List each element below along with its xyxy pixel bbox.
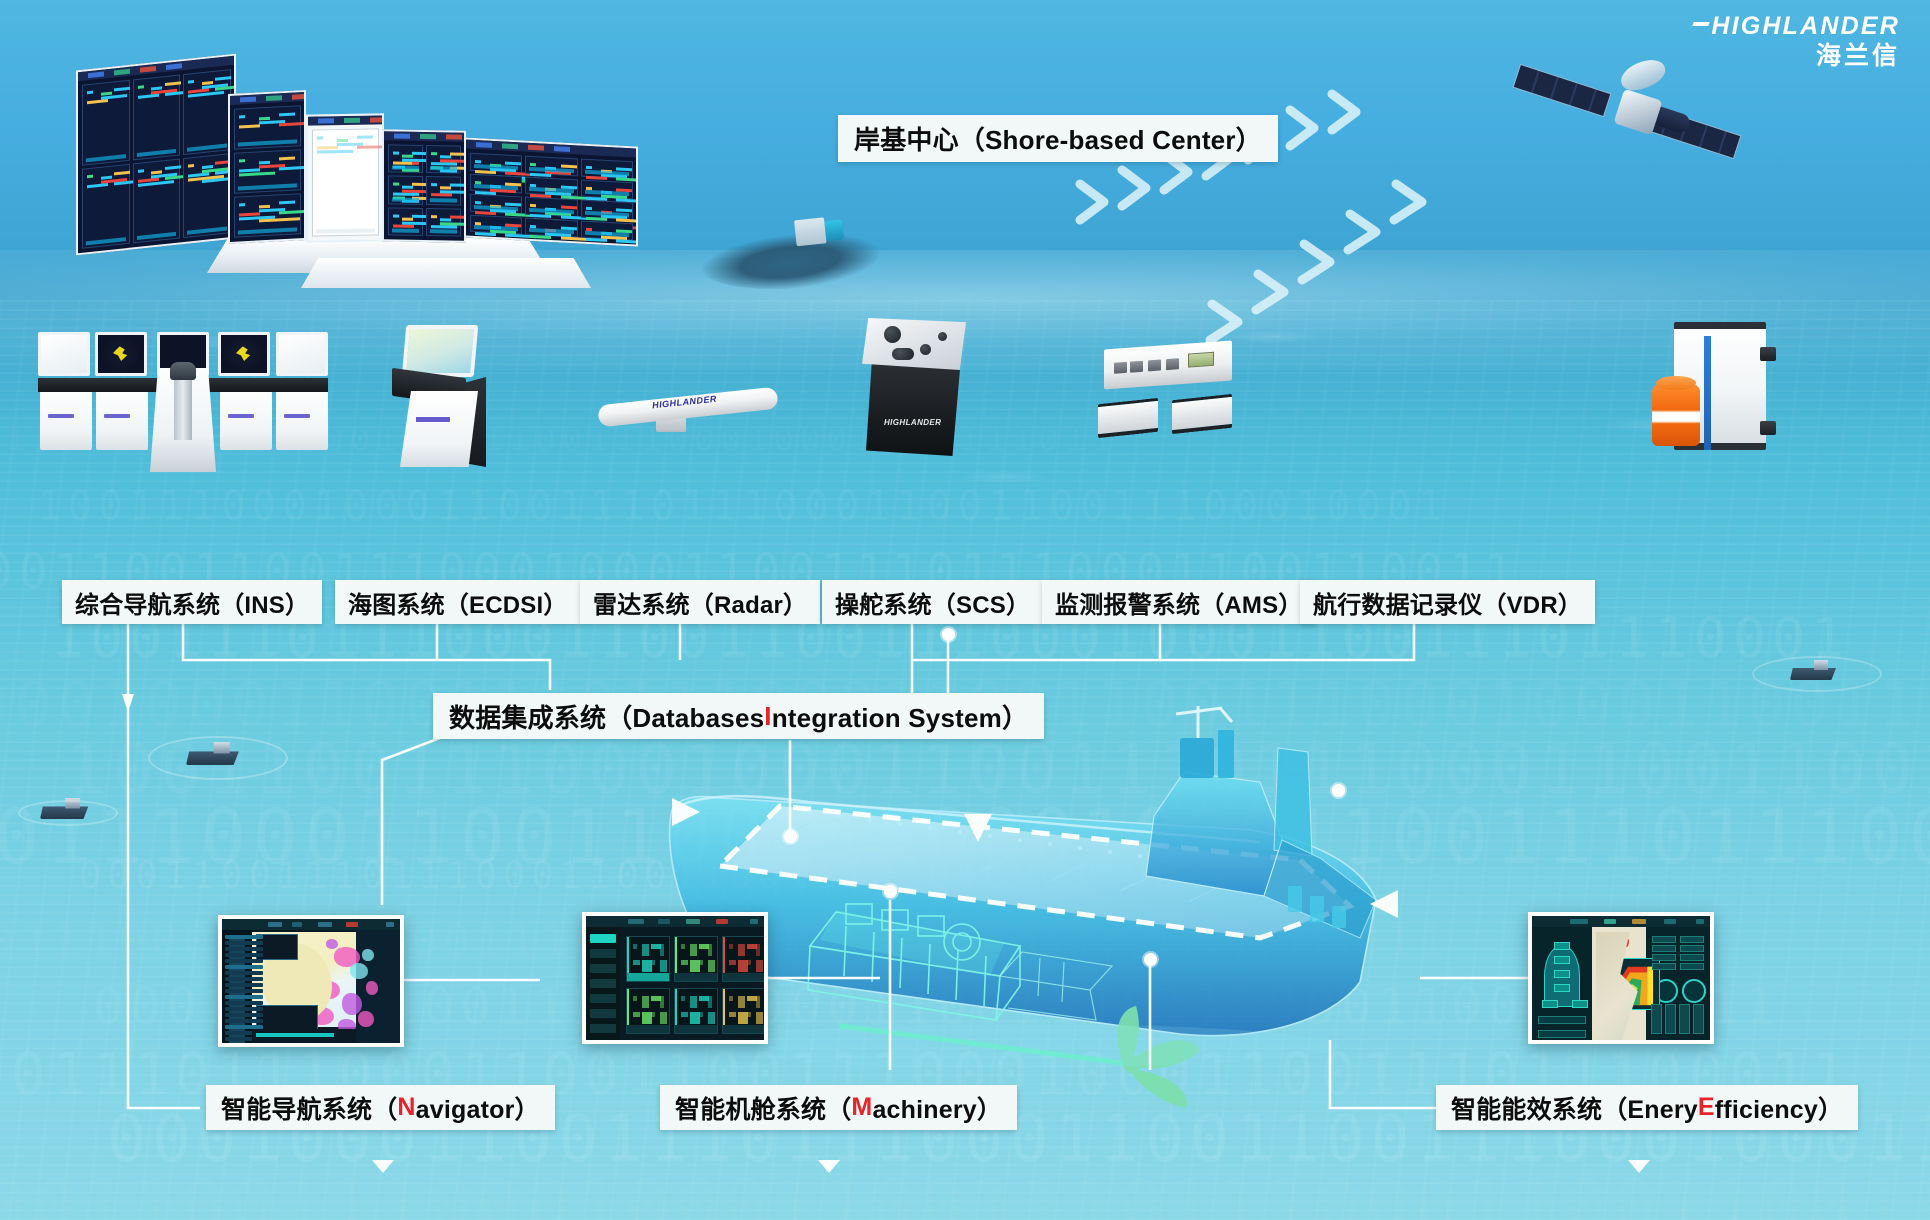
- smart-system-suffix-efficiency: fficiency）: [1715, 1090, 1843, 1126]
- ins-cabinet-3: [220, 392, 272, 450]
- efficiency-scale: [1538, 1030, 1586, 1038]
- efficiency-readout-tag: [1554, 956, 1570, 964]
- smart-system-prefix-efficiency: 智能能效系统（Enery: [1451, 1090, 1698, 1126]
- video-wall-screen-4[interactable]: [382, 129, 466, 242]
- vdr-blue-stripe: [1704, 336, 1711, 450]
- vdr-capsule: [1652, 384, 1700, 446]
- screen-panel: [470, 214, 522, 234]
- video-wall-screen-5[interactable]: [464, 137, 638, 246]
- vdr-hinge-bottom: [1760, 421, 1776, 435]
- efficiency-value-box: [1652, 963, 1676, 970]
- scs-cabinet: HIGHLANDER: [866, 364, 960, 456]
- machinery-tile-caption: [627, 1025, 669, 1033]
- ins-cabinet-1: [40, 392, 92, 450]
- ship-node-integration: [784, 830, 797, 843]
- navigator-chart-feature: [362, 949, 374, 961]
- machinery-tile-caption: [627, 973, 669, 981]
- ins-cabinet-2: [96, 392, 148, 450]
- screen-panel: [133, 158, 181, 244]
- efficiency-bar-meter: [1679, 1004, 1690, 1034]
- ecdis-screen: [402, 325, 479, 377]
- navigator-info-row: [225, 971, 263, 975]
- ams-module-1: [1098, 398, 1158, 438]
- screen-panel: [470, 153, 522, 173]
- equipment-label-text-scs: 操舵系统（SCS）: [835, 585, 1030, 620]
- navigator-info-row: [225, 959, 263, 963]
- screen-panel: [388, 144, 423, 173]
- scs-knob-2: [920, 344, 931, 355]
- machinery-subsystem-tile[interactable]: [626, 988, 670, 1034]
- screen-panel: [581, 200, 633, 220]
- screen-panel: [183, 69, 231, 155]
- machinery-tile-caption: [675, 973, 717, 981]
- equipment-label-ins: 综合导航系统（INS）: [62, 580, 322, 624]
- ins-monitor-5: [276, 332, 328, 376]
- satellite-solar-panel-left: [1512, 64, 1611, 117]
- steering-console-icon: HIGHLANDER: [862, 318, 972, 458]
- screen-panel: [426, 208, 461, 237]
- mini-vessel-right-wake: [1752, 656, 1882, 692]
- machinery-screenshot[interactable]: [582, 912, 768, 1044]
- navigator-progress-bar[interactable]: [256, 1033, 334, 1037]
- navigator-info-row: [225, 983, 263, 987]
- screen-panel: [183, 153, 231, 239]
- smart-ship-architecture-diagram: 1000110011101110001100110011100010001100…: [0, 0, 1930, 1220]
- screen-titlebar: [384, 131, 464, 141]
- scs-knob-1: [884, 326, 901, 343]
- ecdis-cabinet: [400, 391, 478, 467]
- navigator-info-row: [225, 977, 263, 981]
- vdr-hinge-top: [1760, 347, 1776, 361]
- ins-monitor-4: [218, 332, 270, 376]
- smart-system-label-navigator: 智能导航系统（Navigator）: [206, 1085, 555, 1130]
- equipment-label-ecdsi: 海图系统（ECDSI）: [335, 580, 581, 624]
- equipment-label-ams: 监测报警系统（AMS）: [1042, 580, 1316, 624]
- marker-triangle-2: [818, 1160, 840, 1173]
- smart-system-prefix-machinery: 智能机舱系统（: [675, 1090, 851, 1126]
- equipment-label-vdr: 航行数据记录仪（VDR）: [1300, 580, 1595, 624]
- efficiency-value-box: [1680, 954, 1704, 961]
- efficiency-bar-meter: [1693, 1004, 1704, 1034]
- machinery-menu-item[interactable]: [590, 964, 616, 973]
- equipment-label-radar: 雷达系统（Radar）: [580, 580, 820, 624]
- navigator-screenshot[interactable]: [218, 915, 404, 1047]
- efficiency-readout-tag: [1554, 942, 1570, 950]
- screen-panel: [82, 80, 130, 166]
- control-room-video-wall: [58, 42, 638, 272]
- ins-monitor-1: [38, 332, 90, 376]
- data-integration-prefix: 数据集成系统（Databases: [449, 698, 764, 735]
- scs-wheel: [892, 348, 914, 360]
- efficiency-value-box: [1680, 936, 1704, 943]
- equipment-label-scs: 操舵系统（SCS）: [822, 580, 1043, 624]
- efficiency-readout-tag: [1542, 1000, 1558, 1008]
- efficiency-value-box: [1652, 945, 1676, 952]
- marker-triangle-3: [1628, 1160, 1650, 1173]
- efficiency-titlebar: [1532, 916, 1710, 927]
- island-structure: [794, 217, 827, 246]
- alarm-rack-icon: [1098, 345, 1278, 455]
- video-wall-screen-2[interactable]: [228, 90, 306, 244]
- ins-helm-seat: [170, 362, 196, 380]
- efficiency-readout-tag: [1554, 970, 1570, 978]
- machinery-tile-caption: [723, 1025, 765, 1033]
- screen-panel: [82, 163, 130, 249]
- smart-system-highlight-machinery: M: [851, 1093, 872, 1122]
- island-tower: [824, 219, 844, 241]
- navigator-info-row: [225, 947, 263, 951]
- screen-panel: [388, 207, 423, 236]
- mini-vessel-mid-wake: [148, 736, 288, 780]
- efficiency-scale: [1538, 1016, 1586, 1024]
- ams-module-2: [1172, 394, 1232, 434]
- satellite-icon: [1512, 38, 1752, 178]
- navigator-chart-feature: [358, 1011, 374, 1027]
- navigator-info-row: [225, 989, 263, 993]
- equipment-label-text-vdr: 航行数据记录仪（VDR）: [1313, 585, 1582, 620]
- video-wall-screen-3[interactable]: [306, 113, 384, 242]
- efficiency-readout-tag: [1554, 984, 1570, 992]
- machinery-menu-item[interactable]: [590, 1024, 616, 1033]
- efficiency-bar-meter: [1651, 1004, 1662, 1034]
- screen-panel: [525, 217, 577, 237]
- screen-panel: [234, 105, 301, 150]
- navigator-info-row: [225, 965, 263, 969]
- screen-panel: [388, 176, 423, 205]
- ship-node-bridge: [942, 628, 955, 641]
- data-integration-highlight: I: [764, 701, 771, 732]
- equipment-label-text-ins: 综合导航系统（INS）: [75, 585, 309, 620]
- cargo-ship-icon: [660, 690, 1450, 1110]
- shore-center-label: 岸基中心（Shore-based Center）: [838, 115, 1278, 162]
- ins-center-column: [174, 378, 192, 440]
- screen-titlebar: [230, 92, 304, 105]
- scs-knob-3: [938, 332, 947, 341]
- navigator-info-row: [225, 1007, 263, 1011]
- machinery-menu-item[interactable]: [590, 934, 616, 943]
- video-wall-screen-1[interactable]: [76, 54, 236, 256]
- smart-system-highlight-efficiency: E: [1698, 1093, 1715, 1122]
- scs-brand-text: HIGHLANDER: [884, 418, 941, 427]
- scs-control-surface: [862, 318, 966, 370]
- smart-system-label-efficiency: 智能能效系统（Enery Efficiency）: [1436, 1085, 1858, 1130]
- data-integration-suffix: ntegration System）: [772, 698, 1028, 735]
- screen-panel: [581, 179, 633, 199]
- efficiency-value-box: [1652, 936, 1676, 943]
- chart-workstation-icon: [392, 325, 502, 470]
- navigator-info-row: [225, 941, 263, 945]
- navigator-info-row: [225, 1001, 263, 1005]
- efficiency-gauge-2: [1682, 979, 1706, 1003]
- screen-panel: [525, 197, 577, 217]
- machinery-subsystem-tile[interactable]: [626, 936, 670, 982]
- mini-vessel-left-wake: [18, 800, 118, 826]
- screen-panel: [312, 128, 379, 236]
- ship-node-deck: [1332, 784, 1345, 797]
- smart-system-prefix-navigator: 智能导航系统（: [221, 1090, 397, 1126]
- efficiency-readout-tag: [1572, 1000, 1588, 1008]
- efficiency-value-box: [1652, 954, 1676, 961]
- navigator-chart-feature: [326, 939, 338, 949]
- screen-panel: [470, 194, 522, 214]
- machinery-menu-item[interactable]: [590, 979, 616, 988]
- screen-panel: [426, 145, 461, 174]
- screen-panel: [234, 149, 301, 194]
- machinery-tile-caption: [675, 1025, 717, 1033]
- screen-panel: [234, 193, 301, 238]
- screen-panel: [470, 173, 522, 193]
- navigator-info-row: [225, 1019, 263, 1023]
- navigator-titlebar: [222, 919, 400, 930]
- machinery-menu-item[interactable]: [590, 994, 616, 1003]
- machinery-subsystem-tile[interactable]: [674, 936, 718, 982]
- screen-panel: [133, 74, 181, 160]
- navigator-info-row: [225, 1013, 263, 1017]
- machinery-menu-item[interactable]: [590, 1009, 616, 1018]
- machinery-menu-item[interactable]: [590, 949, 616, 958]
- screen-panel: [525, 176, 577, 196]
- navigator-chart-feature: [350, 963, 368, 979]
- machinery-subsystem-tile[interactable]: [722, 936, 766, 982]
- machinery-subsystem-tile[interactable]: [674, 988, 718, 1034]
- ams-rack-unit: [1104, 341, 1232, 390]
- efficiency-screenshot[interactable]: [1528, 912, 1714, 1044]
- data-integration-label: 数据集成系统（Databases Integration System）: [433, 693, 1044, 739]
- navigator-info-row: [225, 935, 263, 939]
- efficiency-value-box: [1680, 963, 1704, 970]
- ship-node-stern: [1144, 953, 1157, 966]
- navigator-info-row: [225, 995, 263, 999]
- brand-wordmark: HIGHLANDER: [1693, 14, 1900, 39]
- efficiency-value-box: [1680, 945, 1704, 952]
- navigator-chart-feature: [342, 993, 362, 1015]
- radar-array: [597, 387, 778, 428]
- ship-node-engine: [884, 885, 897, 898]
- radar-antenna-icon: HIGHLANDER: [598, 368, 778, 458]
- efficiency-bar-meter: [1665, 1004, 1676, 1034]
- machinery-tile-caption: [723, 973, 765, 981]
- marker-triangle-1: [372, 1160, 394, 1173]
- machinery-titlebar: [586, 916, 764, 927]
- equipment-label-text-ecdsi: 海图系统（ECDSI）: [348, 585, 568, 620]
- screen-titlebar: [308, 115, 382, 125]
- navigator-chart-feature: [366, 981, 378, 995]
- ins-monitor-2: [95, 332, 147, 376]
- smart-system-label-machinery: 智能机舱系统（Machinery）: [660, 1085, 1017, 1130]
- ins-cabinet-4: [276, 392, 328, 450]
- screen-panel: [426, 176, 461, 205]
- screen-panel: [581, 220, 633, 240]
- machinery-subsystem-tile[interactable]: [722, 988, 766, 1034]
- navigator-info-row: [225, 953, 263, 957]
- equipment-label-text-radar: 雷达系统（Radar）: [593, 585, 807, 620]
- equipment-label-text-ams: 监测报警系统（AMS）: [1055, 585, 1303, 620]
- smart-system-suffix-machinery: achinery）: [872, 1090, 1002, 1126]
- video-wall-podium: [301, 258, 591, 288]
- vdr-cabinet-icon: [1652, 322, 1782, 462]
- smart-system-highlight-navigator: N: [397, 1093, 415, 1122]
- screen-panel: [525, 156, 577, 176]
- smart-system-suffix-navigator: avigator）: [416, 1090, 540, 1126]
- screen-panel: [581, 159, 633, 179]
- shore-center-text: 岸基中心（Shore-based Center）: [854, 120, 1262, 157]
- navigation-console-icon: [38, 332, 328, 472]
